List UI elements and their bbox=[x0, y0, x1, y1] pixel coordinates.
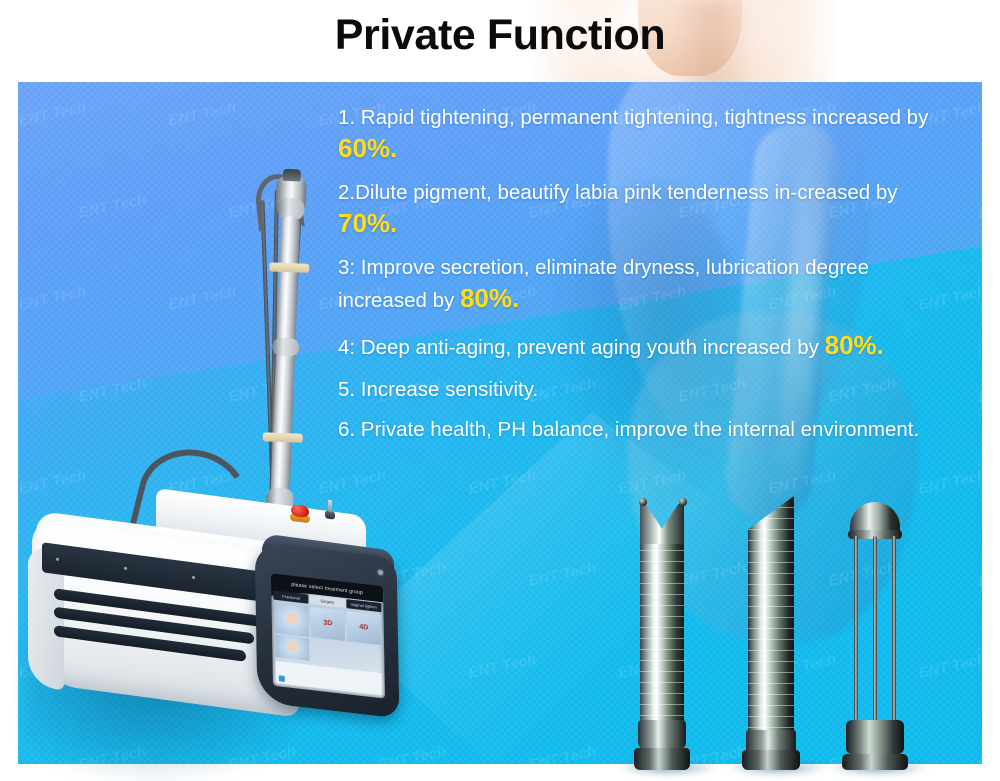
feature-percent: 80%. bbox=[825, 330, 884, 360]
probe-rib bbox=[640, 693, 684, 694]
key-switch[interactable] bbox=[322, 505, 338, 521]
screen-grid-cell[interactable] bbox=[275, 634, 309, 660]
feature-item: 1. Rapid tightening, permanent tightenin… bbox=[338, 104, 958, 166]
key-switch-key bbox=[328, 500, 332, 512]
probe-rib bbox=[748, 716, 794, 717]
promo-banner: Private Function ENT TechENT TechENT Tec… bbox=[0, 0, 1000, 781]
probe-rib bbox=[748, 672, 794, 673]
feature-percent: 80%. bbox=[460, 283, 519, 313]
feature-text: 1. Rapid tightening, permanent tightenin… bbox=[338, 106, 928, 129]
probe-cage-bar bbox=[854, 536, 858, 724]
probe-rib bbox=[640, 572, 684, 573]
probe-cage-bar bbox=[873, 536, 877, 724]
feature-list: 1. Rapid tightening, permanent tightenin… bbox=[338, 104, 958, 444]
panel-screw bbox=[124, 567, 127, 570]
probe-neck bbox=[746, 730, 796, 752]
probe-neck bbox=[638, 720, 686, 750]
probe-tip-ball bbox=[639, 498, 647, 506]
touchscreen[interactable]: please select treatment group Fractional… bbox=[271, 573, 385, 698]
cable-strap bbox=[269, 262, 309, 273]
probe-rib bbox=[748, 529, 794, 530]
probe-rib bbox=[640, 561, 684, 562]
watermark-text: ENT Tech bbox=[467, 467, 538, 498]
probe-rib bbox=[640, 682, 684, 683]
probe-rib bbox=[748, 573, 794, 574]
screen-grid-cell bbox=[347, 643, 381, 669]
page-title: Private Function bbox=[0, 14, 1000, 57]
screen-back-button[interactable] bbox=[279, 675, 285, 682]
probe-cage-dome bbox=[840, 502, 910, 770]
probe-cage-bar bbox=[892, 536, 896, 724]
probe-forked-tip bbox=[630, 494, 696, 770]
screen-grid-cell[interactable] bbox=[275, 603, 310, 637]
probe-base-collar bbox=[846, 720, 904, 754]
probe-rib bbox=[748, 650, 794, 651]
arm-tube bbox=[270, 216, 301, 517]
probe-rib bbox=[640, 704, 684, 705]
watermark-text: ENT Tech bbox=[977, 191, 982, 222]
probe-rib bbox=[748, 661, 794, 662]
probe-rib bbox=[640, 671, 684, 672]
cable-strap bbox=[263, 432, 303, 443]
watermark-text: ENT Tech bbox=[977, 559, 982, 590]
feature-item: 6. Private health, PH balance, improve t… bbox=[338, 416, 958, 443]
probe-rib bbox=[748, 551, 794, 552]
console-indicator-led bbox=[378, 570, 383, 576]
feature-item: 2.Dilute pigment, beautify labia pink te… bbox=[338, 179, 958, 241]
probe-rib bbox=[748, 694, 794, 695]
probe-rib bbox=[748, 562, 794, 563]
probe-group bbox=[612, 470, 952, 770]
screen-grid-cell bbox=[311, 639, 345, 665]
watermark-text: ENT Tech bbox=[527, 559, 598, 590]
probe-rib bbox=[748, 540, 794, 541]
probe-rib bbox=[640, 583, 684, 584]
probe-tip-ball bbox=[679, 498, 687, 506]
probe-base bbox=[842, 754, 908, 770]
arm-joint bbox=[272, 338, 300, 357]
probe-rib bbox=[640, 660, 684, 661]
feature-text: 4: Deep anti-aging, prevent aging youth … bbox=[338, 336, 825, 359]
panel-screw bbox=[56, 558, 59, 561]
probe-base bbox=[742, 750, 800, 770]
screen-treatment-grid: 3D 4D bbox=[275, 603, 382, 669]
screen-grid-cell[interactable]: 3D bbox=[311, 607, 346, 641]
probe-rib bbox=[748, 617, 794, 618]
probe-rib bbox=[748, 639, 794, 640]
probe-rib bbox=[640, 638, 684, 639]
probe-shaft bbox=[748, 496, 794, 736]
probe-rib bbox=[640, 627, 684, 628]
probe-rib bbox=[748, 705, 794, 706]
probe-rib bbox=[640, 550, 684, 551]
probe-rib bbox=[640, 649, 684, 650]
watermark-text: ENT Tech bbox=[977, 375, 982, 406]
feature-item: 3: Improve secretion, eliminate dryness,… bbox=[338, 254, 958, 316]
feature-item: 5. Increase sensitivity. bbox=[338, 376, 958, 403]
watermark-text: ENT Tech bbox=[467, 651, 538, 682]
probe-rib bbox=[748, 595, 794, 596]
feature-text: 6. Private health, PH balance, improve t… bbox=[338, 418, 919, 441]
probe-bevel-tip bbox=[740, 490, 802, 770]
probe-rib bbox=[748, 683, 794, 684]
probe-rib bbox=[748, 507, 794, 508]
probe-rib bbox=[748, 606, 794, 607]
panel-screw bbox=[192, 576, 195, 579]
emergency-stop-button[interactable] bbox=[290, 504, 310, 524]
feature-item: 4: Deep anti-aging, prevent aging youth … bbox=[338, 328, 958, 363]
probe-rib bbox=[640, 594, 684, 595]
probe-rib bbox=[748, 518, 794, 519]
watermark-text: ENT Tech bbox=[18, 99, 88, 130]
watermark-text: ENT Tech bbox=[527, 743, 598, 764]
laser-machine: please select treatment group Fractional… bbox=[10, 150, 390, 770]
probe-rib bbox=[748, 584, 794, 585]
probe-rib bbox=[640, 715, 684, 716]
probe-base bbox=[634, 748, 690, 770]
probe-rib bbox=[748, 628, 794, 629]
watermark-text: ENT Tech bbox=[167, 99, 238, 130]
feature-text: 2.Dilute pigment, beautify labia pink te… bbox=[338, 181, 898, 204]
probe-rib bbox=[748, 727, 794, 728]
probe-rib bbox=[640, 605, 684, 606]
screen-grid-cell[interactable]: 4D bbox=[347, 611, 382, 645]
probe-rib bbox=[640, 616, 684, 617]
feature-text: 3: Improve secretion, eliminate dryness,… bbox=[338, 256, 869, 312]
watermark-text: ENT Tech bbox=[977, 743, 982, 764]
probe-shaft bbox=[640, 528, 684, 736]
probe-fork-tip bbox=[640, 504, 684, 544]
